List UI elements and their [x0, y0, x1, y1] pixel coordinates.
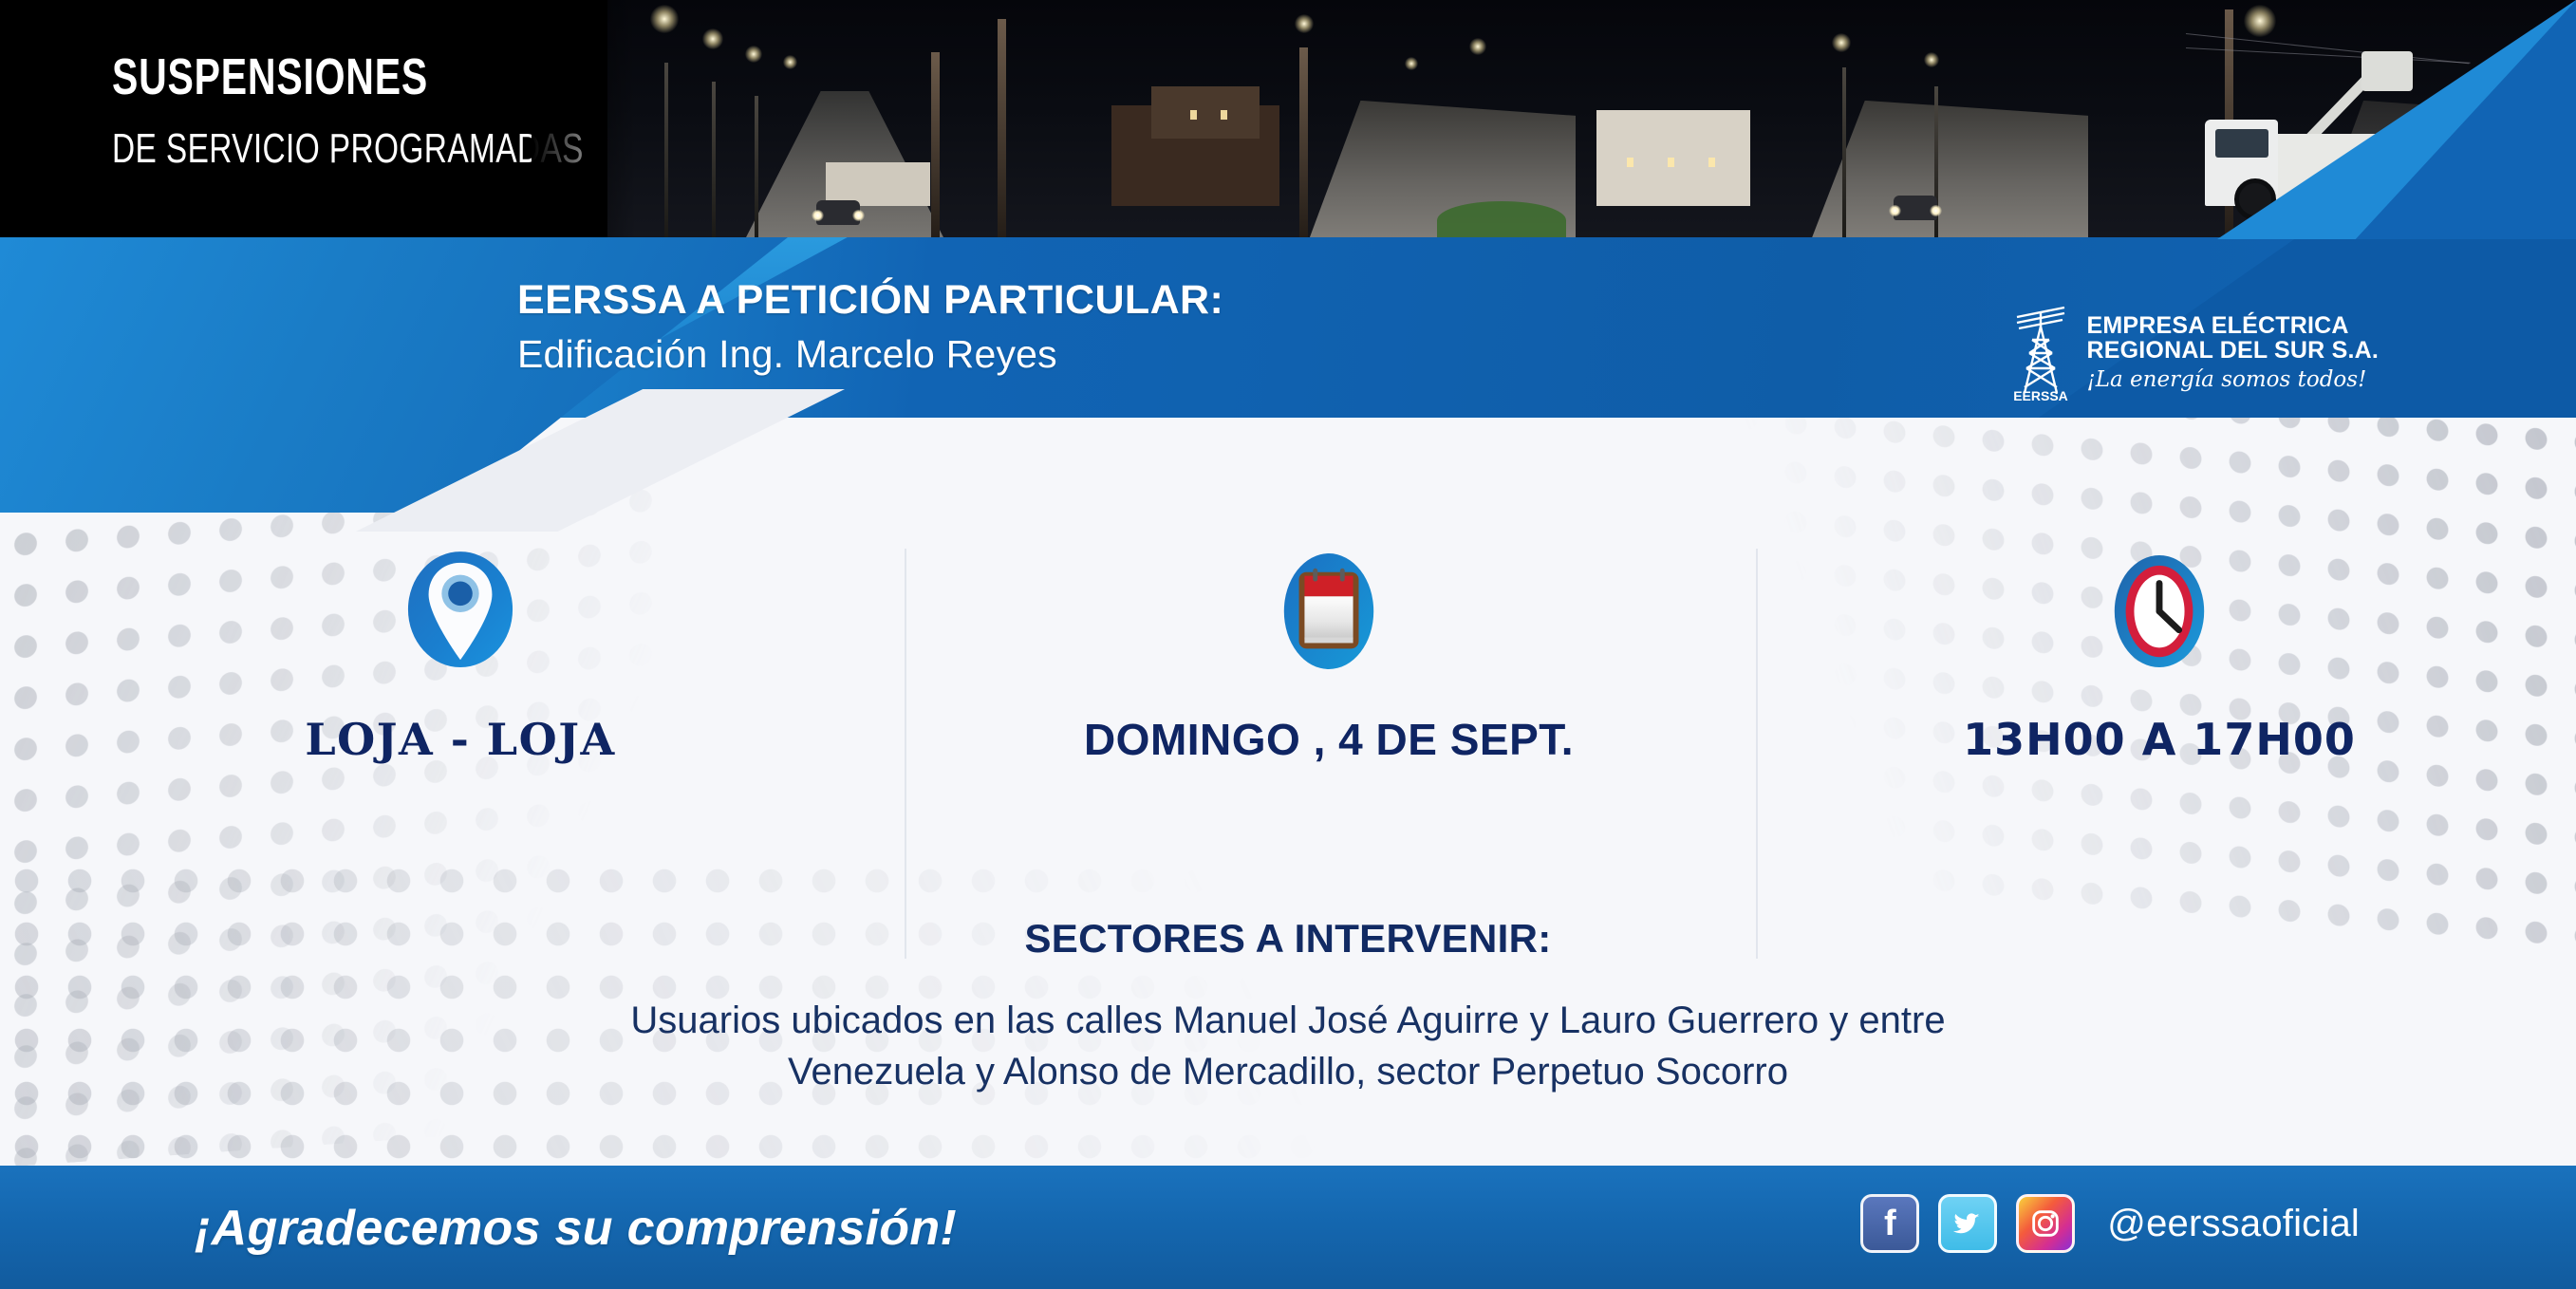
- footer-message: ¡Agradecemos su comprensión!: [195, 1200, 957, 1257]
- instagram-glyph: [2019, 1197, 2072, 1250]
- social-handle[interactable]: @eerssaoficial: [2107, 1203, 2360, 1245]
- banner-fade-overlay: [532, 0, 636, 239]
- banner-photo-strip: SUSPENSIONES DE SERVICIO PROGRAMADAS: [0, 0, 2576, 239]
- social-links: f @eerssaoficial: [1860, 1194, 2360, 1253]
- banner-title-line1: SUSPENSIONES: [112, 47, 428, 106]
- sectors-body: Usuarios ubicados en las calles Manuel J…: [0, 996, 2576, 1097]
- info-column-date: DOMINGO , 4 DE SEPT.: [911, 532, 1746, 765]
- twitter-glyph: [1941, 1197, 1994, 1250]
- header-subheadline: Edificación Ing. Marcelo Reyes: [517, 332, 1223, 377]
- info-column-time: 13H00 A 17H00: [1803, 532, 2515, 765]
- clock-icon: [1803, 532, 2515, 693]
- banner-photo-street-1: [607, 0, 1082, 239]
- logo-slogan: ¡La energía somos todos!: [2087, 368, 2379, 391]
- sectors-line-1: Usuarios ubicados en las calles Manuel J…: [0, 996, 2576, 1047]
- twitter-icon[interactable]: [1938, 1194, 1997, 1253]
- transmission-tower-icon: EERSSA: [2011, 302, 2070, 402]
- logo-wordmark: EMPRESA ELÉCTRICA REGIONAL DEL SUR S.A. …: [2087, 313, 2379, 391]
- calendar-icon: [911, 532, 1746, 693]
- logo-name-line1: EMPRESA ELÉCTRICA: [2087, 313, 2379, 339]
- banner-photo-street-2: [1082, 0, 1576, 239]
- banner-title-line2: DE SERVICIO PROGRAMADAS: [112, 125, 584, 173]
- sectors-line-2: Venezuela y Alonso de Mercadillo, sector…: [0, 1047, 2576, 1098]
- date-label: DOMINGO , 4 DE SEPT.: [911, 714, 1746, 765]
- location-pin-icon: [114, 532, 807, 693]
- facebook-icon[interactable]: f: [1860, 1194, 1919, 1253]
- suspension-notice-poster: SUSPENSIONES DE SERVICIO PROGRAMADAS EER…: [0, 0, 2576, 1289]
- header-title-block: EERSSA A PETICIÓN PARTICULAR: Edificació…: [517, 277, 1223, 377]
- location-label: LOJA - LOJA: [114, 714, 807, 765]
- facebook-glyph: f: [1863, 1197, 1916, 1250]
- banner-photo-street-3: [1576, 0, 2088, 239]
- eerssa-logo: EERSSA EMPRESA ELÉCTRICA REGIONAL DEL SU…: [2011, 302, 2379, 402]
- time-label: 13H00 A 17H00: [1803, 714, 2515, 765]
- instagram-icon[interactable]: [2016, 1194, 2075, 1253]
- info-columns: LOJA - LOJA: [0, 532, 2576, 911]
- header-headline: EERSSA A PETICIÓN PARTICULAR:: [517, 277, 1223, 324]
- banner-title-panel: SUSPENSIONES DE SERVICIO PROGRAMADAS: [0, 0, 607, 239]
- footer-bar: ¡Agradecemos su comprensión! f: [0, 1166, 2576, 1289]
- sectors-title: SECTORES A INTERVENIR:: [0, 916, 2576, 962]
- sectors-block: SECTORES A INTERVENIR: Usuarios ubicados…: [0, 916, 2576, 1097]
- logo-name-line2: REGIONAL DEL SUR S.A.: [2087, 338, 2379, 364]
- info-column-location: LOJA - LOJA: [114, 532, 807, 765]
- logo-mark-text: EERSSA: [2013, 388, 2068, 402]
